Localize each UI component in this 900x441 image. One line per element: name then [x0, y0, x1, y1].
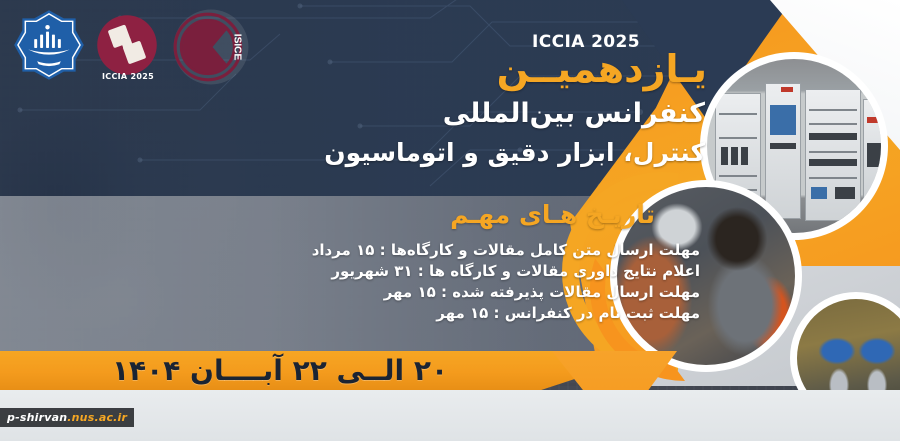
conference-banner: ICCIA 2025 ISICE ICCIA 2025 یـازدهمیــن … — [0, 0, 900, 441]
watermark-prefix: p-shirvan — [7, 411, 67, 424]
svg-text:ISICE: ISICE — [231, 34, 242, 61]
watermark-suffix: .nus.ac.ir — [67, 411, 127, 424]
iccia-logo — [96, 14, 158, 76]
footer-bar: iccia2025@nus.ac.ir 021-42350000 www. ic… — [0, 390, 900, 441]
title-ordinal: یـازدهمیــن — [497, 50, 707, 88]
event-date-text: ۲۰ الــی ۲۲ آبــــان ۱۴۰۴ — [0, 351, 560, 390]
date-item: مهلت ارسال متن کامل مقالات و کارگاه‌ها :… — [290, 240, 700, 261]
date-item: مهلت ثبت نام در کنفرانس : ۱۵ مهر — [290, 303, 700, 324]
important-dates-list: مهلت ارسال متن کامل مقالات و کارگاه‌ها :… — [290, 240, 700, 324]
date-item: اعلام نتایج داوری مقالات و کارگاه ها : ۳… — [290, 261, 700, 282]
title-line-two: کنفرانس بین‌المللی — [443, 100, 705, 127]
iccia-logo-caption: ICCIA 2025 — [90, 72, 166, 81]
isice-logo: ISICE — [172, 8, 250, 86]
university-logo — [12, 8, 86, 82]
important-dates-heading: تاریـخ هـای مهـم — [450, 202, 655, 227]
title-line-three: کنترل، ابزار دقیق و اتوماسیون — [324, 140, 705, 165]
site-watermark: p-shirvan.nus.ac.ir — [0, 408, 134, 427]
date-item: مهلت ارسال مقالات پذیرفته شده : ۱۵ مهر — [290, 282, 700, 303]
